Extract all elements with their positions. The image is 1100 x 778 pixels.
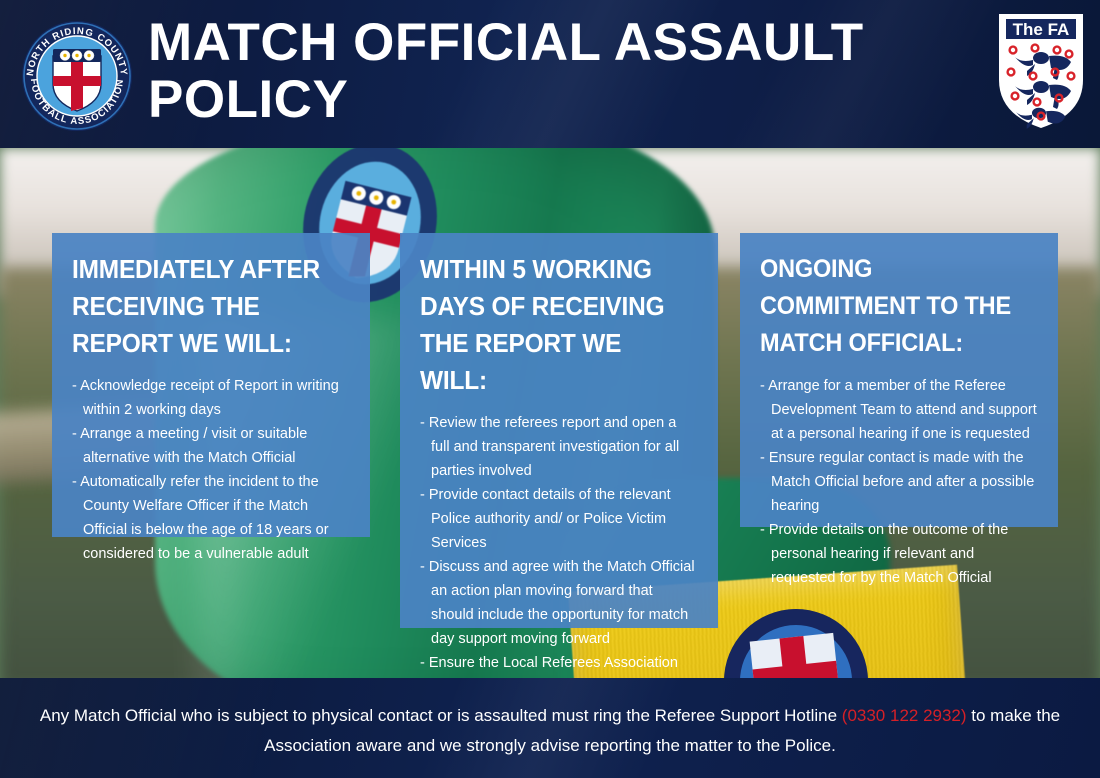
panel-1-heading: IMMEDIATELY AFTER RECEIVING THE REPORT W… <box>72 251 333 362</box>
panel-1-list: Acknowledge receipt of Report in writing… <box>72 374 350 566</box>
list-item: Ensure the Local Referees Association br… <box>420 651 698 678</box>
header-bar: NORTH RIDING COUNTY FOOTBALL ASSOCIATION… <box>0 0 1100 148</box>
list-item: Provide details on the outcome of the pe… <box>760 518 1038 590</box>
match-official-assault-policy-poster: NORTH RIDING COUNTY FOOTBALL ASSOCIATION… <box>0 0 1100 778</box>
list-item: Arrange for a member of the Referee Deve… <box>760 374 1038 446</box>
referee-support-hotline-number: (0330 122 2932) <box>842 706 967 725</box>
panel-immediately-after: IMMEDIATELY AFTER RECEIVING THE REPORT W… <box>52 233 370 537</box>
fa-wordmark: The FA <box>1013 20 1070 39</box>
list-item: Review the referees report and open a fu… <box>420 411 698 483</box>
footer-text-before: Any Match Official who is subject to phy… <box>40 706 842 725</box>
title-line-2: POLICY <box>148 71 968 128</box>
list-item: Provide contact details of the relevant … <box>420 483 698 555</box>
footer-notice: Any Match Official who is subject to phy… <box>30 695 1070 761</box>
list-item: Arrange a meeting / visit or suitable al… <box>72 422 350 470</box>
page-title: MATCH OFFICIAL ASSAULT POLICY <box>148 14 968 128</box>
panel-3-list: Arrange for a member of the Referee Deve… <box>760 374 1038 590</box>
north-riding-county-fa-crest-icon: NORTH RIDING COUNTY FOOTBALL ASSOCIATION <box>17 16 137 134</box>
panel-2-heading: WITHIN 5 WORKING DAYS OF RECEIVING THE R… <box>420 251 681 399</box>
panel-3-heading: ONGOING COMMITMENT TO THE MATCH OFFICIAL… <box>760 251 1021 362</box>
panel-within-5-working-days: WITHIN 5 WORKING DAYS OF RECEIVING THE R… <box>400 233 718 628</box>
list-item: Ensure regular contact is made with the … <box>760 446 1038 518</box>
the-fa-badge-icon: The FA <box>995 10 1087 132</box>
footer-bar: Any Match Official who is subject to phy… <box>0 678 1100 778</box>
background-photo-referee: U18 Referee FOOTBALL ASSOCIATION <box>0 148 1100 678</box>
panel-2-list: Review the referees report and open a fu… <box>420 411 698 678</box>
list-item: Discuss and agree with the Match Officia… <box>420 555 698 651</box>
panel-ongoing-commitment: ONGOING COMMITMENT TO THE MATCH OFFICIAL… <box>740 233 1058 527</box>
list-item: Automatically refer the incident to the … <box>72 470 350 566</box>
list-item: Acknowledge receipt of Report in writing… <box>72 374 350 422</box>
title-line-1: MATCH OFFICIAL ASSAULT <box>148 14 968 71</box>
